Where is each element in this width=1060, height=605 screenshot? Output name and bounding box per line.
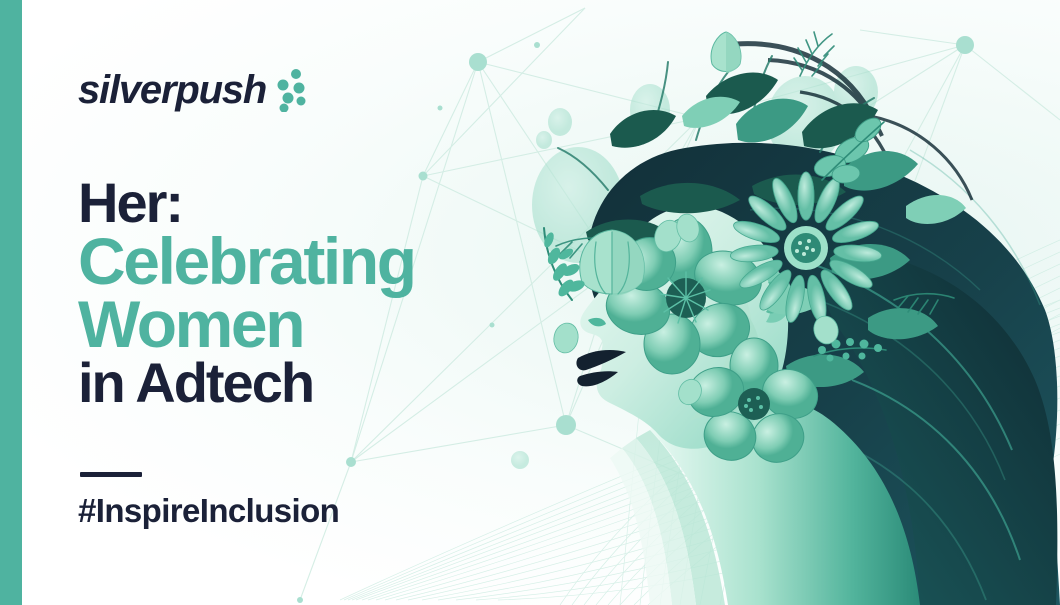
headline-line-3: Women <box>78 293 548 356</box>
silverpush-logo[interactable]: silverpush <box>78 68 309 112</box>
silverpush-dots-icon <box>275 68 309 112</box>
poster-canvas: silverpush Her: Celebrating Women in Adt… <box>0 0 1060 605</box>
woman-profile-with-floral-hair-illustration <box>500 0 1060 605</box>
text-column: silverpush Her: Celebrating Women in Adt… <box>78 0 548 605</box>
headline-line-1: Her: <box>78 176 548 230</box>
headline-line-4: in Adtech <box>78 356 548 410</box>
headline-line-2: Celebrating <box>78 230 548 293</box>
headline-divider <box>80 472 142 477</box>
small-bud-top <box>711 32 741 73</box>
headline-block: Her: Celebrating Women in Adtech <box>78 176 548 410</box>
logo-wordmark: silverpush <box>78 70 266 110</box>
hashtag-text: #InspireInclusion <box>78 492 339 530</box>
left-accent-bar <box>0 0 22 605</box>
